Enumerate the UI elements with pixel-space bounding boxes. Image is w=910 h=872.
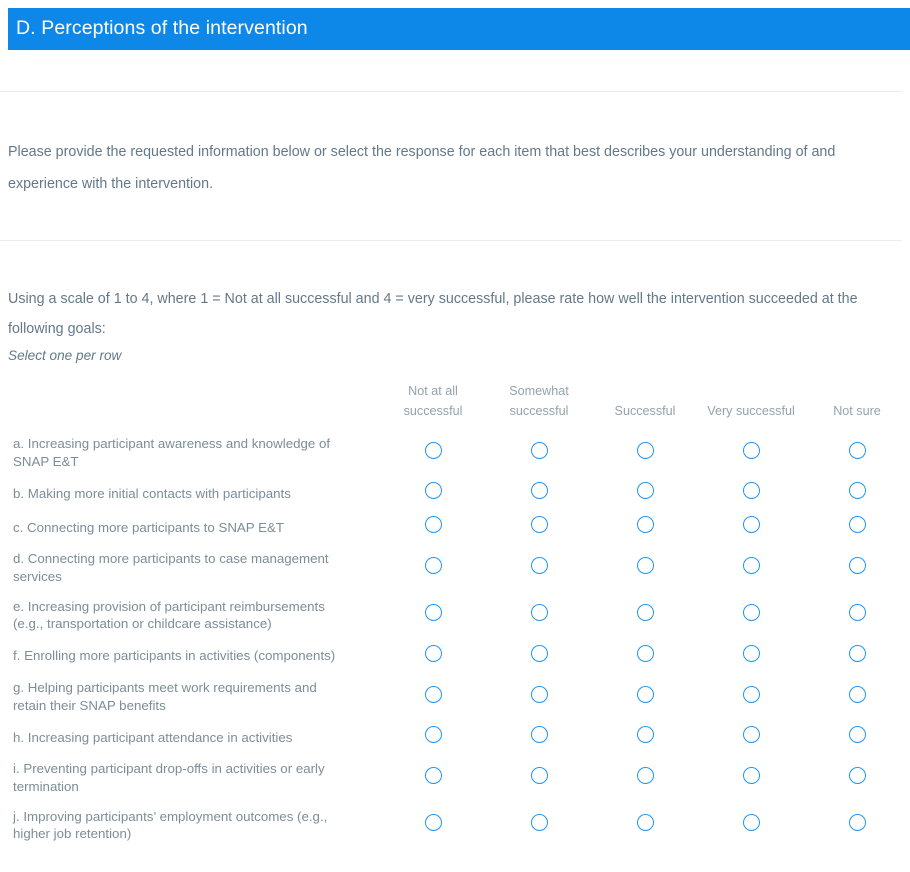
radio-cell-a-1[interactable] [380,429,486,476]
radio-cell-i-5[interactable] [804,754,910,801]
radio-icon[interactable] [425,557,442,574]
radio-icon[interactable] [531,686,548,703]
radio-icon[interactable] [637,726,654,743]
radio-icon[interactable] [531,516,548,533]
radio-icon[interactable] [637,604,654,621]
divider-middle [0,240,902,241]
radio-cell-b-4[interactable] [698,476,804,510]
radio-icon[interactable] [743,726,760,743]
radio-icon[interactable] [425,686,442,703]
radio-cell-i-4[interactable] [698,754,804,801]
radio-cell-j-4[interactable] [698,802,804,849]
radio-cell-a-4[interactable] [698,429,804,476]
column-header-not-at-all-successful: Not at all successful [380,382,486,429]
row-label-f: f. Enrolling more participants in activi… [0,639,380,673]
radio-cell-a-2[interactable] [486,429,592,476]
radio-cell-f-3[interactable] [592,639,698,673]
radio-icon[interactable] [531,482,548,499]
radio-icon[interactable] [531,767,548,784]
matrix-label-header [0,382,380,429]
radio-cell-g-1[interactable] [380,673,486,720]
radio-icon[interactable] [849,604,866,621]
radio-icon[interactable] [637,645,654,662]
row-label-e: e. Increasing provision of participant r… [0,592,380,639]
radio-icon[interactable] [425,604,442,621]
matrix-header: Not at all successful Somewhat successfu… [0,382,910,429]
radio-cell-b-3[interactable] [592,476,698,510]
radio-icon[interactable] [531,442,548,459]
section-banner: D. Perceptions of the intervention [8,8,910,50]
radio-cell-d-4[interactable] [698,544,804,591]
radio-icon[interactable] [425,482,442,499]
radio-cell-c-3[interactable] [592,510,698,544]
radio-cell-h-3[interactable] [592,720,698,754]
radio-icon[interactable] [849,557,866,574]
radio-icon[interactable] [849,482,866,499]
radio-icon[interactable] [743,686,760,703]
radio-cell-h-2[interactable] [486,720,592,754]
radio-icon[interactable] [743,767,760,784]
radio-icon[interactable] [743,516,760,533]
radio-cell-f-5[interactable] [804,639,910,673]
radio-cell-e-1[interactable] [380,592,486,639]
column-header-very-successful: Very successful [698,382,804,429]
radio-icon[interactable] [637,686,654,703]
question-block: Using a scale of 1 to 4, where 1 = Not a… [8,284,878,366]
radio-icon[interactable] [743,645,760,662]
radio-cell-g-3[interactable] [592,673,698,720]
matrix-table: Not at all successful Somewhat successfu… [0,382,910,849]
radio-cell-a-3[interactable] [592,429,698,476]
table-row: f. Enrolling more participants in activi… [0,639,910,673]
radio-icon[interactable] [743,814,760,831]
table-row: b. Making more initial contacts with par… [0,476,910,510]
radio-icon[interactable] [531,645,548,662]
radio-cell-b-5[interactable] [804,476,910,510]
row-label-b: b. Making more initial contacts with par… [0,476,380,510]
radio-cell-e-2[interactable] [486,592,592,639]
radio-icon[interactable] [531,814,548,831]
radio-icon[interactable] [637,557,654,574]
radio-icon[interactable] [849,645,866,662]
table-row: c. Connecting more participants to SNAP … [0,510,910,544]
radio-cell-h-5[interactable] [804,720,910,754]
rating-matrix: Not at all successful Somewhat successfu… [0,382,910,849]
radio-cell-j-2[interactable] [486,802,592,849]
row-label-i: i. Preventing participant drop-offs in a… [0,754,380,801]
radio-cell-i-1[interactable] [380,754,486,801]
table-row: j. Improving participants’ employment ou… [0,802,910,849]
question-prompt: Using a scale of 1 to 4, where 1 = Not a… [8,284,878,344]
row-label-g: g. Helping participants meet work requir… [0,673,380,720]
radio-cell-h-4[interactable] [698,720,804,754]
radio-cell-c-5[interactable] [804,510,910,544]
column-header-successful: Successful [592,382,698,429]
radio-cell-h-1[interactable] [380,720,486,754]
radio-cell-c-2[interactable] [486,510,592,544]
section-title: D. Perceptions of the intervention [16,19,308,39]
radio-icon[interactable] [425,726,442,743]
radio-icon[interactable] [849,516,866,533]
radio-icon[interactable] [531,557,548,574]
radio-cell-j-1[interactable] [380,802,486,849]
radio-icon[interactable] [425,814,442,831]
radio-cell-j-3[interactable] [592,802,698,849]
row-label-d: d. Connecting more participants to case … [0,544,380,591]
radio-icon[interactable] [743,442,760,459]
radio-cell-d-1[interactable] [380,544,486,591]
radio-cell-d-3[interactable] [592,544,698,591]
radio-cell-f-1[interactable] [380,639,486,673]
radio-cell-e-4[interactable] [698,592,804,639]
table-row: e. Increasing provision of participant r… [0,592,910,639]
radio-cell-g-2[interactable] [486,673,592,720]
radio-icon[interactable] [637,814,654,831]
row-label-h: h. Increasing participant attendance in … [0,720,380,754]
column-header-somewhat-successful: Somewhat successful [486,382,592,429]
radio-cell-g-5[interactable] [804,673,910,720]
radio-icon[interactable] [425,442,442,459]
radio-icon[interactable] [849,442,866,459]
radio-cell-d-5[interactable] [804,544,910,591]
radio-cell-e-3[interactable] [592,592,698,639]
radio-icon[interactable] [743,482,760,499]
radio-cell-f-2[interactable] [486,639,592,673]
radio-icon[interactable] [425,767,442,784]
table-row: a. Increasing participant awareness and … [0,429,910,476]
radio-icon[interactable] [849,686,866,703]
radio-icon[interactable] [743,604,760,621]
radio-cell-g-4[interactable] [698,673,804,720]
table-row: h. Increasing participant attendance in … [0,720,910,754]
row-label-a: a. Increasing participant awareness and … [0,429,380,476]
matrix-header-row: Not at all successful Somewhat successfu… [0,382,910,429]
table-row: i. Preventing participant drop-offs in a… [0,754,910,801]
radio-icon[interactable] [531,604,548,621]
radio-icon[interactable] [849,767,866,784]
radio-icon[interactable] [637,767,654,784]
question-hint: Select one per row [8,346,878,366]
radio-cell-d-2[interactable] [486,544,592,591]
radio-icon[interactable] [637,516,654,533]
row-label-j: j. Improving participants’ employment ou… [0,802,380,849]
column-header-not-sure: Not sure [804,382,910,429]
radio-cell-c-1[interactable] [380,510,486,544]
radio-cell-a-5[interactable] [804,429,910,476]
radio-cell-i-3[interactable] [592,754,698,801]
row-label-c: c. Connecting more participants to SNAP … [0,510,380,544]
table-row: d. Connecting more participants to case … [0,544,910,591]
radio-cell-j-5[interactable] [804,802,910,849]
radio-icon[interactable] [425,645,442,662]
radio-cell-b-2[interactable] [486,476,592,510]
radio-icon[interactable] [849,814,866,831]
radio-cell-c-4[interactable] [698,510,804,544]
radio-cell-i-2[interactable] [486,754,592,801]
radio-icon[interactable] [425,516,442,533]
radio-icon[interactable] [637,482,654,499]
matrix-body: a. Increasing participant awareness and … [0,429,910,849]
divider-top [0,91,902,92]
radio-cell-f-4[interactable] [698,639,804,673]
intro-block: Please provide the requested information… [8,136,868,200]
radio-cell-b-1[interactable] [380,476,486,510]
radio-icon[interactable] [743,557,760,574]
radio-icon[interactable] [849,726,866,743]
radio-cell-e-5[interactable] [804,592,910,639]
intro-text: Please provide the requested information… [8,136,868,200]
radio-icon[interactable] [531,726,548,743]
radio-icon[interactable] [637,442,654,459]
table-row: g. Helping participants meet work requir… [0,673,910,720]
